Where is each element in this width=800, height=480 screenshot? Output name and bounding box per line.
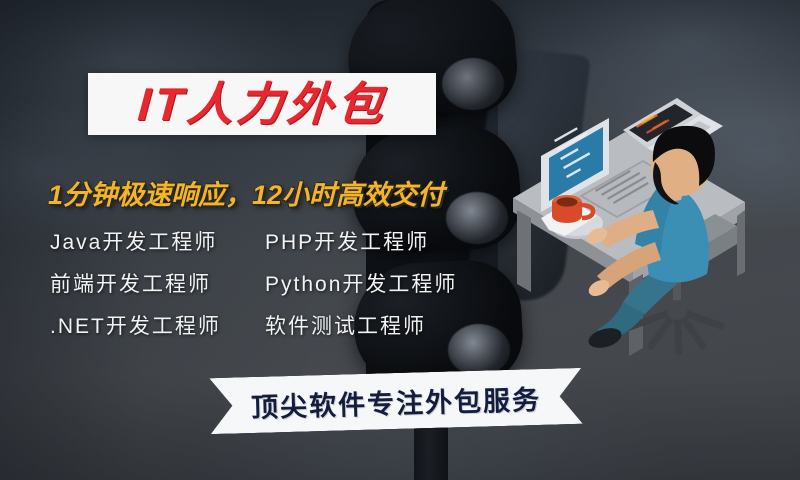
- job-item-php: PHP开发工程师: [265, 226, 470, 256]
- job-item-python: Python开发工程师: [265, 268, 470, 298]
- job-item-java: Java开发工程师: [50, 226, 265, 256]
- ribbon-slogan: 顶尖软件专注外包服务: [209, 368, 582, 434]
- job-item-frontend: 前端开发工程师: [50, 268, 265, 298]
- poster-subtitle: 1分钟极速响应，12小时高效交付: [48, 173, 444, 212]
- developer-at-desk-illustration: [505, 70, 795, 370]
- job-role-list: Java开发工程师 PHP开发工程师 前端开发工程师 Python开发工程师 .…: [50, 220, 470, 346]
- poster-canvas: IT人力外包 1分钟极速响应，12小时高效交付 Java开发工程师 PHP开发工…: [0, 0, 800, 480]
- job-item-qa: 软件测试工程师: [265, 310, 470, 340]
- job-item-dotnet: .NET开发工程师: [50, 310, 265, 340]
- job-row: Java开发工程师 PHP开发工程师: [50, 220, 470, 262]
- title-banner: IT人力外包: [88, 73, 436, 135]
- poster-title: IT人力外包: [136, 81, 388, 127]
- job-row: .NET开发工程师 软件测试工程师: [50, 304, 470, 346]
- bottom-ribbon: 顶尖软件专注外包服务: [209, 368, 582, 434]
- job-row: 前端开发工程师 Python开发工程师: [50, 262, 470, 304]
